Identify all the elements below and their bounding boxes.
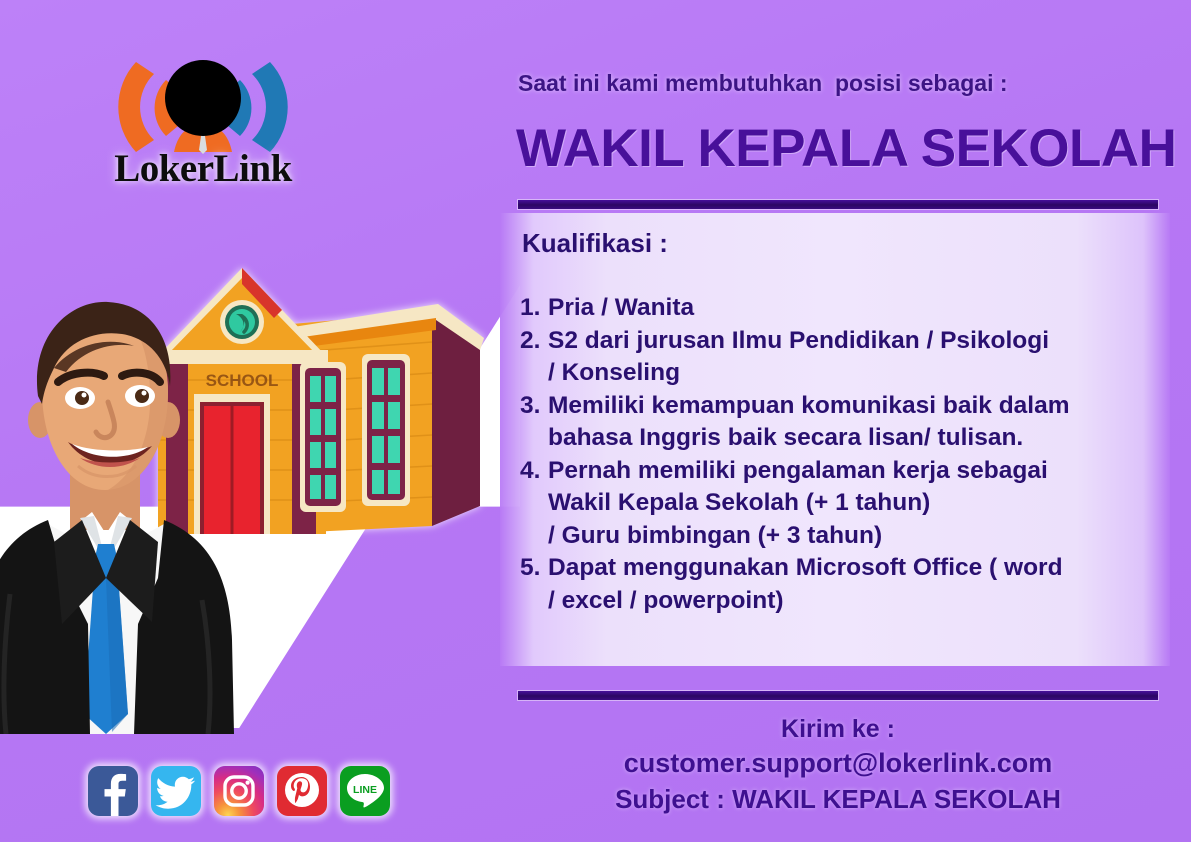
send-to-label: Kirim ke : (518, 712, 1158, 746)
instagram-icon[interactable] (214, 766, 264, 816)
facebook-f-glyph (88, 766, 138, 816)
list-item-text: Pernah memiliki pengalaman kerja sebagai… (548, 455, 1160, 553)
contact-email[interactable]: customer.support@lokerlink.com (518, 746, 1158, 781)
list-item-text: Memiliki kemampuan komunikasi baik dalam… (548, 390, 1160, 455)
list-item-number: 5. (520, 552, 548, 617)
list-item-number: 1. (520, 292, 548, 325)
brand-logo: LokerLink (78, 52, 328, 202)
page-title: WAKIL KEPALA SEKOLAH (516, 118, 1176, 179)
list-item: 3. Memiliki kemampuan komunikasi baik da… (520, 390, 1160, 455)
pinterest-p-glyph (277, 766, 327, 816)
qualifications-title: Kualifikasi : (522, 228, 668, 259)
list-item-number: 4. (520, 455, 548, 553)
instagram-camera-glyph (214, 766, 264, 816)
divider-bottom (518, 691, 1158, 700)
qualifications-panel: Kualifikasi : 1. Pria / Wanita 2. S2 dar… (500, 213, 1170, 666)
illustration-group: SCHOOL (0, 236, 520, 728)
list-item: 1. Pria / Wanita (520, 292, 1160, 325)
list-item-text: S2 dari jurusan Ilmu Pendidikan / Psikol… (548, 325, 1160, 390)
list-item-text: Dapat menggunakan Microsoft Office ( wor… (548, 552, 1160, 617)
businessman-illustration (0, 294, 252, 734)
twitter-icon[interactable] (151, 766, 201, 816)
list-item-text: Pria / Wanita (548, 292, 1160, 325)
brand-name: LokerLink (78, 146, 328, 191)
list-item-number: 3. (520, 390, 548, 455)
list-item: 2. S2 dari jurusan Ilmu Pendidikan / Psi… (520, 325, 1160, 390)
line-label: LINE (353, 784, 377, 796)
social-icons-row: LINE (88, 766, 390, 816)
contact-block: Kirim ke : customer.support@lokerlink.co… (518, 712, 1158, 817)
list-item: 5. Dapat menggunakan Microsoft Office ( … (520, 552, 1160, 617)
contact-subject: Subject : WAKIL KEPALA SEKOLAH (518, 781, 1158, 817)
line-icon[interactable]: LINE (340, 766, 390, 816)
list-item: 4. Pernah memiliki pengalaman kerja seba… (520, 455, 1160, 553)
list-item-number: 2. (520, 325, 548, 390)
job-vacancy-poster: LokerLink (0, 0, 1191, 842)
line-speech-bubble-glyph: LINE (340, 766, 390, 816)
pinterest-icon[interactable] (277, 766, 327, 816)
facebook-icon[interactable] (88, 766, 138, 816)
qualifications-list: 1. Pria / Wanita 2. S2 dari jurusan Ilmu… (520, 292, 1160, 617)
twitter-bird-glyph (151, 766, 201, 816)
divider-top (518, 200, 1158, 209)
subheading: Saat ini kami membutuhkan posisi sebagai… (518, 70, 1008, 97)
